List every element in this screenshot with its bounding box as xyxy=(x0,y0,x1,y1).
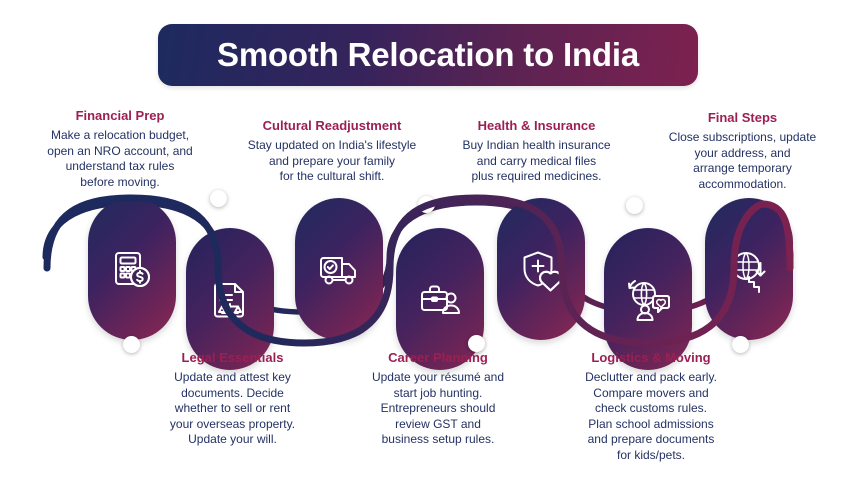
wave-node-2 xyxy=(210,190,227,207)
step-body: Make a relocation budget, open an NRO ac… xyxy=(14,128,226,190)
step-pill-financial-prep[interactable] xyxy=(88,198,176,340)
step-body: Update and attest key documents. Decide … xyxy=(135,370,330,448)
step-pill-health-insurance[interactable] xyxy=(497,198,585,340)
step-body: Update your résumé and start job hunting… xyxy=(338,370,538,448)
shield-heart-medical-icon xyxy=(517,245,565,293)
step-pill-legal-essentials[interactable] xyxy=(186,228,274,370)
step-heading: Career Planning xyxy=(338,350,538,365)
step-heading: Final Steps xyxy=(640,110,845,125)
step-heading: Logistics & Moving xyxy=(545,350,757,365)
step-text-logistics-moving: Logistics & Moving Declutter and pack ea… xyxy=(545,350,757,463)
delivery-truck-check-icon xyxy=(315,245,363,293)
globe-person-chat-icon xyxy=(623,274,673,324)
wave-node-5 xyxy=(626,197,643,214)
step-pill-logistics-moving[interactable] xyxy=(604,228,692,370)
legal-document-scales-icon xyxy=(206,275,254,323)
step-heading: Cultural Readjustment xyxy=(226,118,438,133)
step-text-cultural-readjustment: Cultural Readjustment Stay updated on In… xyxy=(226,118,438,185)
step-pill-cultural-readjustment[interactable] xyxy=(295,198,383,340)
step-body: Close subscriptions, update your address… xyxy=(640,130,845,192)
briefcase-person-icon xyxy=(416,275,464,323)
calculator-dollar-icon xyxy=(108,245,156,293)
step-heading: Legal Essentials xyxy=(135,350,330,365)
step-text-health-insurance: Health & Insurance Buy Indian health ins… xyxy=(434,118,639,185)
step-body: Buy Indian health insurance and carry me… xyxy=(434,138,639,185)
step-text-career-planning: Career Planning Update your résumé and s… xyxy=(338,350,538,448)
step-text-final-steps: Final Steps Close subscriptions, update … xyxy=(640,110,845,192)
step-heading: Health & Insurance xyxy=(434,118,639,133)
step-text-legal-essentials: Legal Essentials Update and attest key d… xyxy=(135,350,330,448)
step-pill-final-steps[interactable] xyxy=(705,198,793,340)
wave-node-3 xyxy=(418,196,435,213)
step-heading: Financial Prep xyxy=(14,108,226,123)
title-banner: Smooth Relocation to India xyxy=(158,24,698,86)
step-text-financial-prep: Financial Prep Make a relocation budget,… xyxy=(14,108,226,190)
page-title: Smooth Relocation to India xyxy=(217,36,639,74)
step-body: Stay updated on India's lifestyle and pr… xyxy=(226,138,438,185)
step-body: Declutter and pack early. Compare movers… xyxy=(545,370,757,463)
globe-arrow-down-icon xyxy=(725,245,773,293)
infographic-canvas: Smooth Relocation to India xyxy=(0,0,855,480)
